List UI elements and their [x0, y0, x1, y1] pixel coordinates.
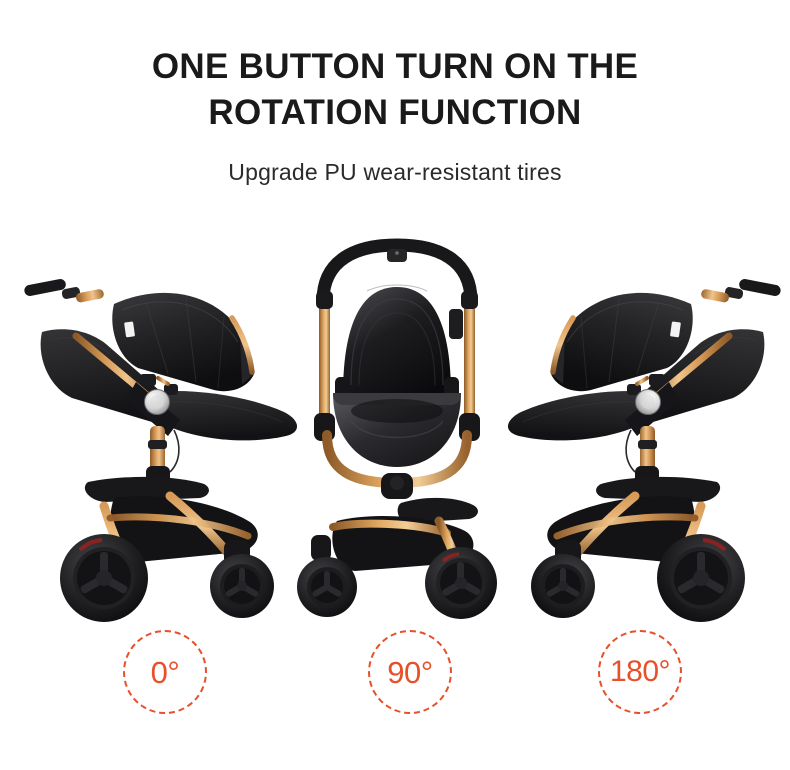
bassinet-pod [333, 393, 461, 467]
rear-wheel [60, 534, 148, 622]
headline-line-2: ROTATION FUNCTION [0, 90, 790, 136]
rotation-badge-90-label: 90° [387, 657, 432, 688]
stroller-90-degrees [297, 235, 497, 625]
stroller-0-degrees [18, 270, 308, 625]
rotation-badge-90: 90° [368, 630, 452, 714]
bassinet-hood [335, 285, 459, 399]
rotation-badge-180-label: 180° [610, 657, 670, 687]
front-wheel [531, 554, 595, 618]
handlebar [23, 278, 104, 303]
front-wheel [210, 554, 274, 618]
rotation-badge-0-label: 0° [151, 657, 180, 688]
wheel-right [425, 547, 497, 619]
rotation-badge-row: 0° 90° 180° [0, 630, 790, 730]
rear-wheel [657, 534, 745, 622]
page-title: ONE BUTTON TURN ON THE ROTATION FUNCTION [0, 44, 790, 136]
product-banner: ONE BUTTON TURN ON THE ROTATION FUNCTION… [0, 0, 790, 770]
handlebar [700, 278, 781, 303]
product-image-row [0, 225, 790, 625]
rotation-badge-0: 0° [123, 630, 207, 714]
headline-line-1: ONE BUTTON TURN ON THE [0, 44, 790, 90]
stroller-180-degrees [492, 270, 787, 625]
header: ONE BUTTON TURN ON THE ROTATION FUNCTION… [0, 0, 790, 186]
wheel-left [297, 557, 357, 617]
rotation-badge-180: 180° [598, 630, 682, 714]
subtitle: Upgrade PU wear-resistant tires [0, 159, 790, 186]
